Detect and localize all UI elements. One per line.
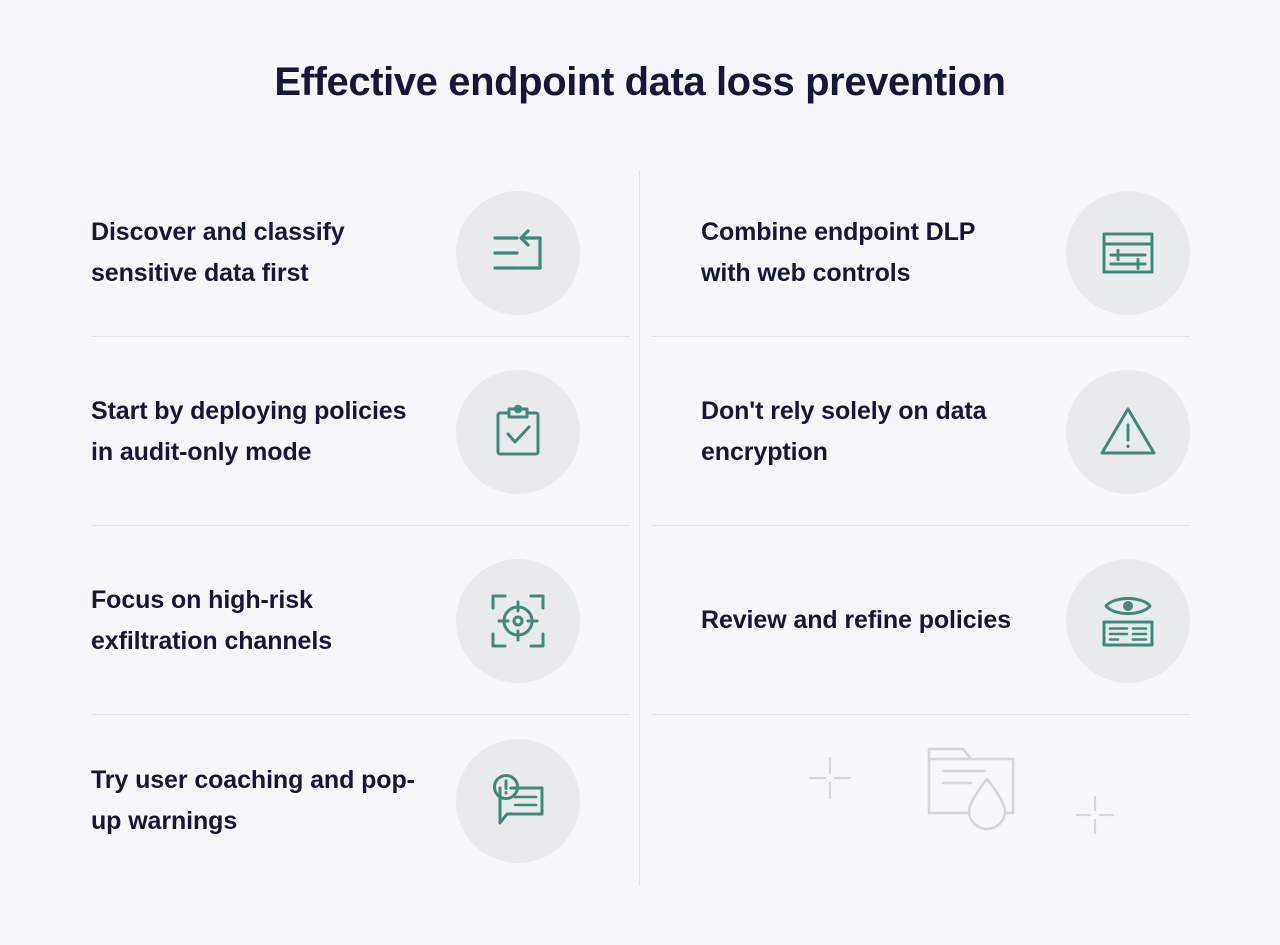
tip-card-exfiltration-channels: Focus on high-risk exfiltration channels (91, 526, 640, 715)
tip-label: Focus on high-risk exfiltration channels (91, 580, 421, 662)
browser-window-sliders-icon (1066, 191, 1190, 315)
infographic-root: Effective endpoint data loss prevention … (0, 0, 1280, 945)
tip-card-data-encryption: Don't rely solely on data encryption (640, 337, 1190, 526)
tip-card-combine-endpoint-dlp: Combine endpoint DLP with web controls (640, 168, 1190, 337)
clipboard-check-icon (456, 370, 580, 494)
plus-mark-icon (1073, 793, 1117, 842)
plus-mark-icon (805, 753, 855, 808)
folder-droplet-icon (919, 727, 1023, 836)
classify-lines-return-icon (456, 191, 580, 315)
crosshair-target-icon (456, 559, 580, 683)
tip-label: Don't rely solely on data encryption (701, 391, 1031, 473)
decorative-watermark (701, 715, 1190, 886)
tips-grid: Discover and classify sensitive data fir… (91, 168, 1190, 886)
alert-speech-bubble-icon (456, 739, 580, 863)
tip-card-discover-classify: Discover and classify sensitive data fir… (91, 168, 640, 337)
tip-label: Combine endpoint DLP with web controls (701, 212, 1031, 294)
warning-triangle-icon (1066, 370, 1190, 494)
page-title: Effective endpoint data loss prevention (0, 58, 1280, 106)
tip-card-review-refine-policies: Review and refine policies (640, 526, 1190, 715)
eye-document-icon (1066, 559, 1190, 683)
tip-card-audit-only-mode: Start by deploying policies in audit-onl… (91, 337, 640, 526)
tip-label: Try user coaching and pop-up warnings (91, 760, 421, 842)
tip-card-user-coaching: Try user coaching and pop-up warnings (91, 715, 640, 886)
tip-label: Start by deploying policies in audit-onl… (91, 391, 421, 473)
tip-label: Review and refine policies (701, 600, 1011, 641)
watermark-cell (640, 715, 1190, 886)
tip-label: Discover and classify sensitive data fir… (91, 212, 421, 294)
